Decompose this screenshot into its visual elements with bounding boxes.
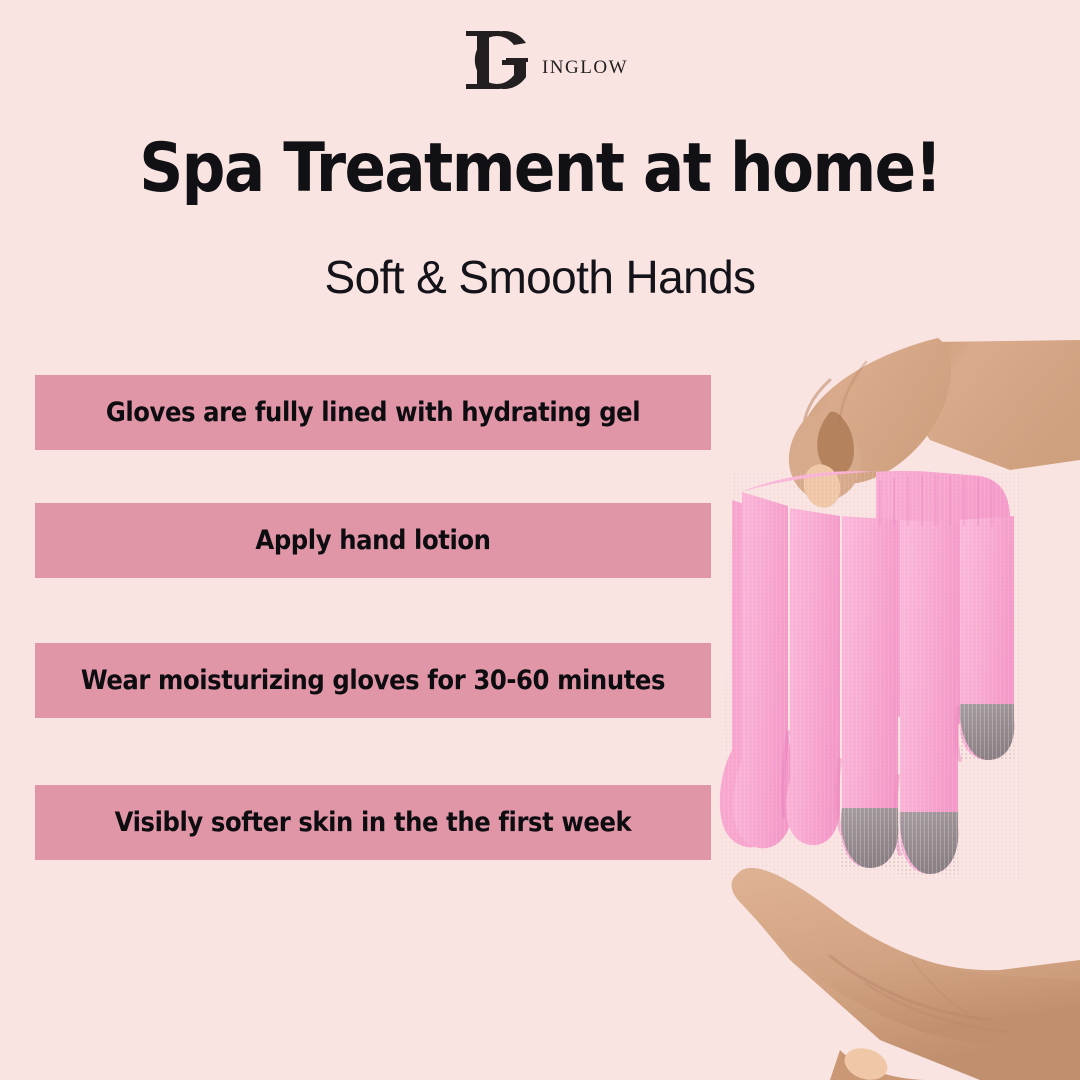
poster-canvas: INGLOW Spa Treatment at home! Soft & Smo… bbox=[0, 0, 1080, 1080]
benefit-bar: Gloves are fully lined with hydrating ge… bbox=[35, 375, 711, 450]
benefit-bar-label: Wear moisturizing gloves for 30-60 minut… bbox=[35, 665, 711, 696]
benefit-bar: Wear moisturizing gloves for 30-60 minut… bbox=[35, 643, 711, 718]
benefit-bar-label: Visibly softer skin in the the first wee… bbox=[35, 807, 711, 838]
pink-glove bbox=[720, 471, 1020, 880]
benefit-bar: Visibly softer skin in the the first wee… bbox=[35, 785, 711, 860]
benefit-bar-label: Gloves are fully lined with hydrating ge… bbox=[35, 397, 711, 428]
lower-hand bbox=[732, 868, 1080, 1080]
hands-holding-glove-illustration bbox=[680, 320, 1080, 1080]
benefit-bar-label: Apply hand lotion bbox=[35, 525, 711, 556]
benefit-bar: Apply hand lotion bbox=[35, 503, 711, 578]
product-photo bbox=[680, 320, 1080, 1080]
benefit-bar-list: Gloves are fully lined with hydrating ge… bbox=[35, 0, 711, 1080]
